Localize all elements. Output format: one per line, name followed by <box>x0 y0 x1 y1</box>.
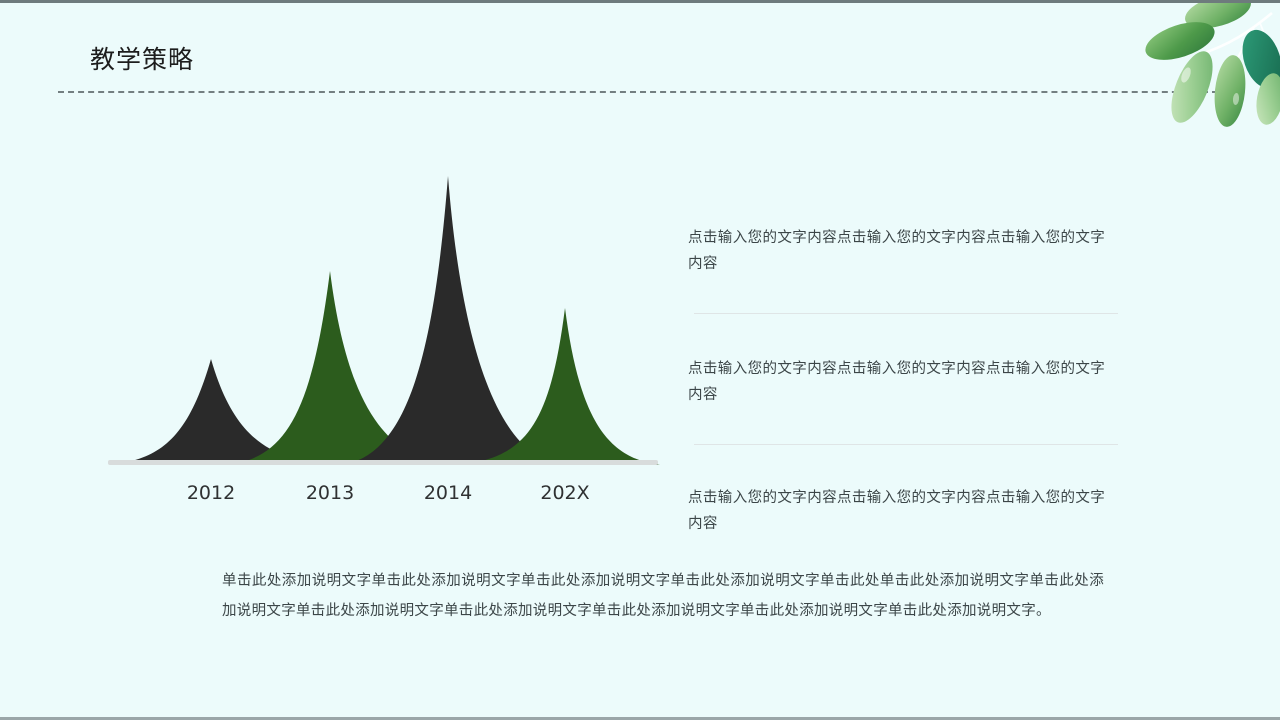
bottom-description-paragraph[interactable]: 单击此处添加说明文字单击此处添加说明文字单击此处添加说明文字单击此处添加说明文字… <box>222 566 1104 626</box>
chart-peaks-svg <box>100 153 670 468</box>
chart-axis-labels: 2012 2013 2014 202X <box>100 480 670 510</box>
text-block-3-body: 点击输入您的文字内容点击输入您的文字内容点击输入您的文字内容 <box>688 485 1118 537</box>
axis-label-2: 2014 <box>388 480 508 506</box>
slide-canvas: 教学策略 2012 2013 2014 202X 点击输入您的文字内容点击输入您… <box>0 0 1280 720</box>
right-text-column: 点击输入您的文字内容点击输入您的文字内容点击输入您的文字内容 点击输入您的文字内… <box>688 225 1118 537</box>
text-block-2[interactable]: 点击输入您的文字内容点击输入您的文字内容点击输入您的文字内容 <box>688 356 1118 408</box>
title-block: 教学策略 <box>58 43 1218 95</box>
title-dashed-divider <box>58 91 1218 93</box>
text-divider-2 <box>694 444 1118 445</box>
page-title: 教学策略 <box>90 43 194 77</box>
text-block-3[interactable]: 点击输入您的文字内容点击输入您的文字内容点击输入您的文字内容 <box>688 485 1118 537</box>
text-block-1[interactable]: 点击输入您的文字内容点击输入您的文字内容点击输入您的文字内容 <box>688 225 1118 277</box>
axis-label-0: 2012 <box>151 480 271 506</box>
text-block-2-body: 点击输入您的文字内容点击输入您的文字内容点击输入您的文字内容 <box>688 356 1118 408</box>
text-block-1-body: 点击输入您的文字内容点击输入您的文字内容点击输入您的文字内容 <box>688 225 1118 277</box>
axis-label-1: 2013 <box>270 480 390 506</box>
chart-baseline <box>108 460 658 465</box>
peak-chart: 2012 2013 2014 202X <box>100 153 670 513</box>
text-divider-1 <box>694 313 1118 314</box>
axis-label-3: 202X <box>505 480 625 506</box>
